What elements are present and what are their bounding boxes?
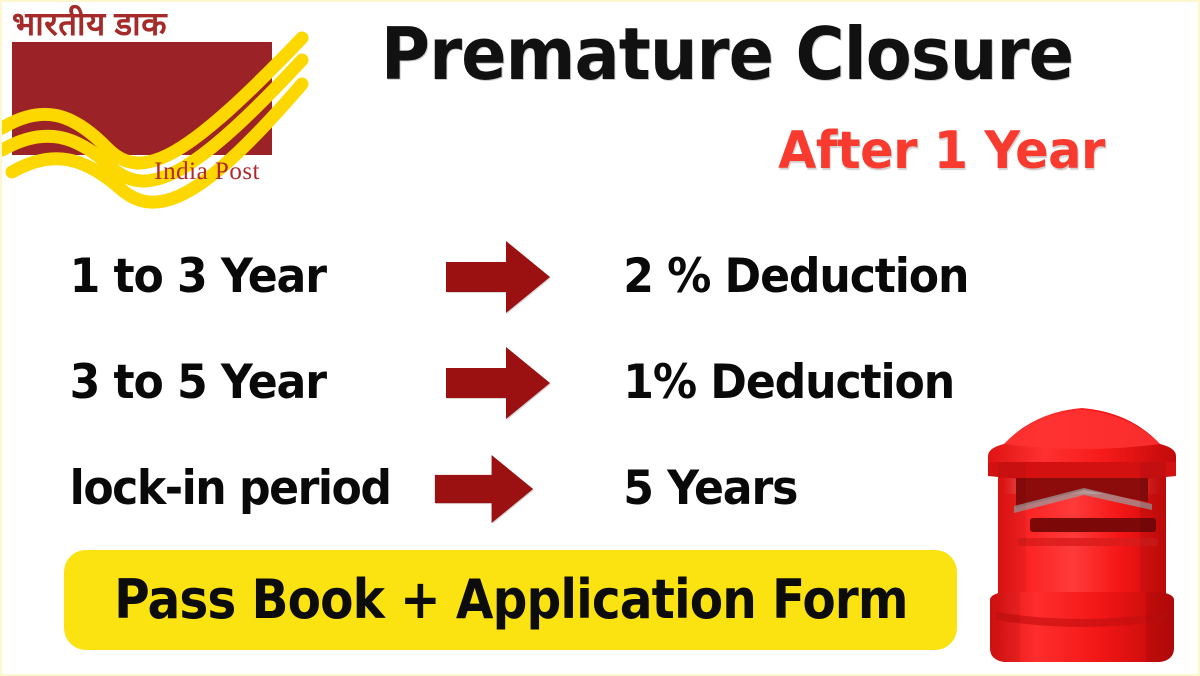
logo-wordmark-text: India Post bbox=[12, 157, 272, 187]
page-subtitle: After 1 Year bbox=[590, 118, 1122, 184]
rule-value-label: 1% Deduction bbox=[612, 355, 1167, 411]
red-postbox-illustration bbox=[964, 404, 1200, 672]
right-arrow-icon bbox=[432, 241, 612, 313]
page-title: Premature Closure bbox=[360, 10, 1095, 98]
rule-value-label: 2 % Deduction bbox=[612, 249, 1167, 305]
right-arrow-icon bbox=[432, 347, 612, 419]
list-item: 1 to 3 Year 2 % Deduction bbox=[2, 224, 1200, 330]
rule-term-label: 3 to 5 Year bbox=[2, 355, 406, 411]
logo-flag-mark bbox=[12, 42, 272, 155]
right-arrow-icon bbox=[432, 455, 612, 523]
rule-term-label: 1 to 3 Year bbox=[2, 249, 406, 305]
requirements-banner-text: Pass Book + Application Form bbox=[114, 569, 908, 631]
requirements-banner: Pass Book + Application Form bbox=[64, 550, 957, 650]
postbox-icon bbox=[964, 404, 1200, 672]
rule-term-label: lock-in period bbox=[2, 461, 406, 517]
india-post-logo: भारतीय डाक India Post bbox=[8, 4, 293, 192]
infographic-poster: भारतीय डाक India Post Premature Closure … bbox=[0, 0, 1200, 676]
